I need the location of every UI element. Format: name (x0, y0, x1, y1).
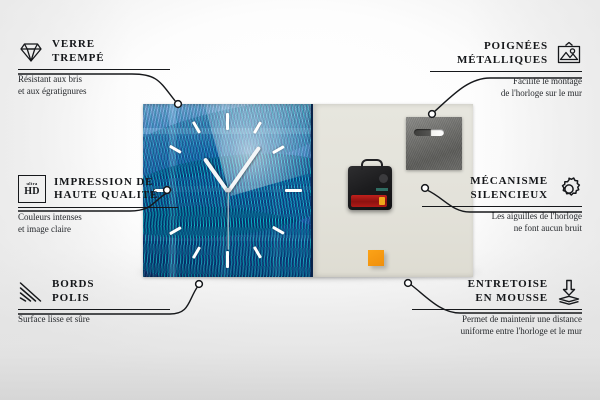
callout-desc-line-2: et aux égratignures (18, 86, 170, 98)
callout-verre-trempe[interactable]: VERRE TREMPÉ Résistant aux bris et aux é… (18, 38, 170, 97)
diamond-icon (18, 39, 44, 65)
callout-title-line-1: BORDS (52, 278, 94, 292)
aa-battery (351, 195, 387, 207)
callout-header: BORDS POLIS (18, 278, 170, 305)
mechanism-label (376, 188, 388, 191)
infographic-stage: VERRE TREMPÉ Résistant aux bris et aux é… (0, 0, 600, 400)
callout-header: MÉCANISME SILENCIEUX (422, 175, 582, 202)
foam-spacer (368, 250, 384, 266)
metal-hanger-bracket (406, 117, 462, 170)
callout-desc-line-2: et image claire (18, 224, 178, 236)
callout-divider (18, 69, 170, 70)
callout-poignees-metalliques[interactable]: POIGNÉES MÉTALLIQUES Facilite le montage… (430, 40, 582, 99)
callout-divider (430, 71, 582, 72)
callout-mecanisme-silencieux[interactable]: MÉCANISME SILENCIEUX Les aiguilles de l'… (422, 175, 582, 234)
callout-desc-line-2: de l'horloge sur le mur (430, 88, 582, 100)
callout-title-line-2: MÉTALLIQUES (457, 54, 548, 68)
callout-title-line-2: POLIS (52, 292, 94, 306)
callout-divider (422, 206, 582, 207)
callout-desc-line-1: Permet de maintenir une distance (412, 314, 582, 326)
callout-desc-line-2: ne font aucun bruit (422, 223, 582, 235)
callout-title-line-1: VERRE (52, 38, 104, 52)
callout-divider (18, 207, 178, 208)
callout-title-line-2: HAUTE QUALITÉ (54, 189, 158, 203)
gear-icon (556, 176, 582, 202)
polished-edge-icon (18, 279, 44, 305)
callout-header: VERRE TREMPÉ (18, 38, 170, 65)
callout-title-line-2: TREMPÉ (52, 52, 104, 66)
callout-title-line-2: EN MOUSSE (468, 292, 548, 306)
arrow-down-layers-icon (556, 279, 582, 305)
callout-desc-line-1: Couleurs intenses (18, 212, 178, 224)
callout-header: ultra HD IMPRESSION DE HAUTE QUALITÉ (18, 175, 178, 203)
callout-header: POIGNÉES MÉTALLIQUES (430, 40, 582, 67)
callout-title-line-1: POIGNÉES (457, 40, 548, 54)
callout-title-line-2: SILENCIEUX (470, 189, 548, 203)
callout-header: ENTRETOISE EN MOUSSE (412, 278, 582, 305)
hanging-frame-icon (556, 41, 582, 67)
bracket-keyhole-slot (414, 129, 444, 136)
clock-tick (285, 189, 302, 192)
callout-bords-polis[interactable]: BORDS POLIS Surface lisse et sûre (18, 278, 170, 326)
ultra-hd-icon-bottom-text: HD (24, 187, 40, 197)
callout-desc-line-1: Facilite le montage (430, 76, 582, 88)
callout-desc-line-2: uniforme entre l'horloge et le mur (412, 326, 582, 338)
callout-title-line-1: ENTRETOISE (468, 278, 548, 292)
callout-divider (412, 309, 582, 310)
callout-title-line-1: IMPRESSION DE (54, 176, 158, 190)
callout-title-line-1: MÉCANISME (470, 175, 548, 189)
ultra-hd-icon: ultra HD (18, 175, 46, 203)
callout-desc-line-1: Les aiguilles de l'horloge (422, 211, 582, 223)
mechanism-dial (379, 174, 388, 183)
clock-center-pin (226, 188, 230, 192)
clock-tick (226, 113, 229, 130)
callout-divider (18, 309, 170, 310)
callout-desc-line-1: Résistant aux bris (18, 74, 170, 86)
callout-impression-haute-qualite[interactable]: ultra HD IMPRESSION DE HAUTE QUALITÉ Cou… (18, 175, 178, 235)
silent-clock-mechanism (348, 166, 392, 210)
callout-desc-line-1: Surface lisse et sûre (18, 314, 170, 326)
clock-tick (226, 251, 229, 268)
clock-second-hand (227, 192, 228, 250)
mechanism-hanger-hook (361, 159, 383, 170)
callout-entretoise-en-mousse[interactable]: ENTRETOISE EN MOUSSE Permet de maintenir… (412, 278, 582, 337)
